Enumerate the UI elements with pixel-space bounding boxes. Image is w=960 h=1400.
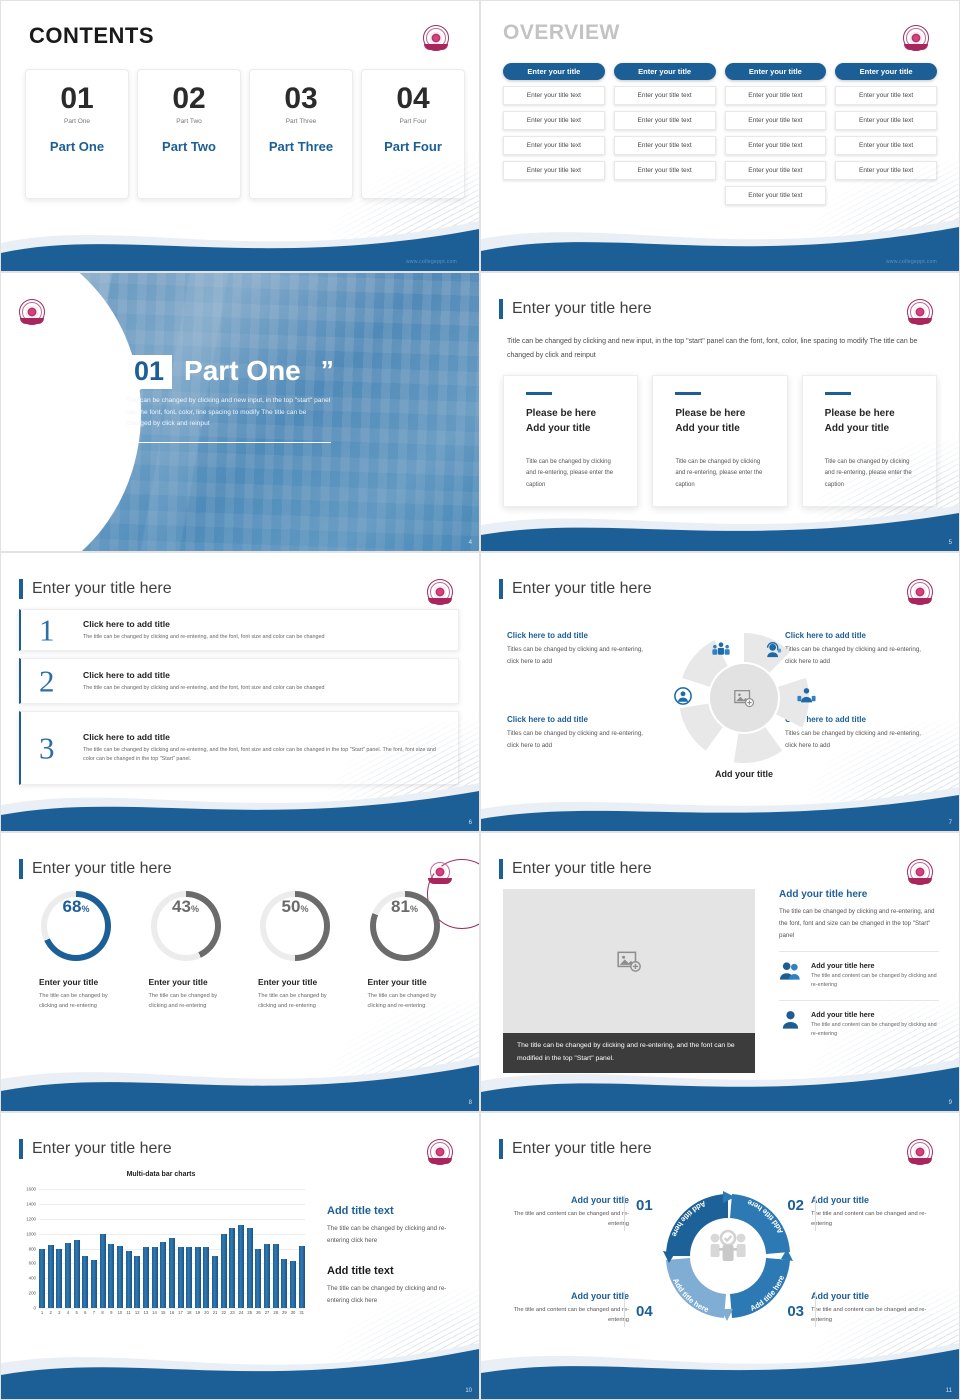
feature-card[interactable]: Please be here Add your title Title can … xyxy=(652,375,787,507)
slide-title: Enter your title here xyxy=(19,1139,172,1159)
card-body: Title can be changed by clicking and re-… xyxy=(825,457,914,492)
x-tick-label: 4 xyxy=(65,1310,71,1315)
wheel-block-top-left: Click here to add title Titles can be ch… xyxy=(507,631,655,668)
item-title: Click here to add title xyxy=(83,732,448,742)
title-accent-bar xyxy=(19,859,23,879)
page-number: 5 xyxy=(949,540,952,546)
bar xyxy=(203,1247,209,1308)
overview-column: Enter your title Enter your title text E… xyxy=(725,63,827,205)
bar xyxy=(229,1228,235,1308)
donut-unit: % xyxy=(81,904,89,914)
slide-overview: OVERVIEW Enter your title Enter your tit… xyxy=(480,0,960,272)
column-header-pill[interactable]: Enter your title xyxy=(725,63,827,80)
card-body: Title can be changed by clicking and re-… xyxy=(526,457,615,492)
side-body-1: The title can be changed by clicking and… xyxy=(327,1223,465,1247)
x-tick-label: 13 xyxy=(143,1310,149,1315)
cycle-block-04: Add your title The title and content can… xyxy=(499,1291,629,1326)
wheel-block-bottom-left: Click here to add title Titles can be ch… xyxy=(507,715,655,752)
x-tick-label: 26 xyxy=(255,1310,261,1315)
card-accent-dash xyxy=(675,392,701,395)
donut-chart: 50% xyxy=(260,891,330,961)
quote-mark-icon: ” xyxy=(321,355,334,386)
university-crest-logo xyxy=(903,25,929,51)
donut-body: The title can be changed by clicking and… xyxy=(39,992,125,1012)
card-row: Please be here Add your title Title can … xyxy=(503,375,937,507)
bar xyxy=(74,1240,80,1308)
donut-value: 81 xyxy=(391,897,410,917)
chart-x-axis-labels: 1234567891011121314151617181920212223242… xyxy=(39,1310,305,1315)
block-body: The title and content can be changed and… xyxy=(499,1305,629,1326)
university-crest-logo xyxy=(427,579,453,605)
column-header-pill[interactable]: Enter your title xyxy=(614,63,716,80)
page-number: 9 xyxy=(949,1100,952,1106)
y-tick-label: 1000 xyxy=(26,1231,36,1236)
chart-plot-area: 02004006008001000120014001600 1234567891… xyxy=(39,1189,305,1309)
bar xyxy=(100,1234,106,1308)
page-title: Enter your title here xyxy=(512,580,652,598)
bar xyxy=(212,1256,218,1308)
chart-bars xyxy=(39,1189,305,1308)
y-tick-label: 800 xyxy=(29,1246,36,1251)
slide-bar-chart: Enter your title here Multi-data bar cha… xyxy=(0,1112,480,1400)
university-crest-logo xyxy=(907,299,933,325)
footer-wave xyxy=(481,1337,959,1399)
university-crest-logo xyxy=(907,859,933,885)
donut-title: Enter your title xyxy=(39,977,98,987)
x-tick-label: 6 xyxy=(82,1310,88,1315)
card-number: 03 xyxy=(284,84,317,114)
contents-card[interactable]: 02 Part Two Part Two xyxy=(137,69,241,199)
side-title-1: Add title text xyxy=(327,1205,465,1217)
overview-cell[interactable]: Enter your title text xyxy=(503,86,605,105)
slide-three-cards: Enter your title here Title can be chang… xyxy=(480,272,960,552)
donut-value: 68 xyxy=(63,897,82,917)
block-title: Click here to add title xyxy=(507,631,655,640)
slide-wheel-diagram: Enter your title here Click here to add … xyxy=(480,552,960,832)
x-tick-label: 1 xyxy=(39,1310,45,1315)
cycle-number-01: 01 xyxy=(636,1197,653,1214)
bar-chart: Multi-data bar charts 020040060080010001… xyxy=(13,1171,309,1331)
card-label: Part Two xyxy=(162,139,216,154)
overview-cell[interactable]: Enter your title text xyxy=(503,111,605,130)
overview-column: Enter your title Enter your title text E… xyxy=(614,63,716,205)
donut-grid: 68% Enter your title The title can be ch… xyxy=(21,891,459,1012)
mini-item[interactable]: Add your title here The title and conten… xyxy=(779,951,939,990)
card-label: Part Three xyxy=(269,139,333,154)
lead-paragraph: Title can be changed by clicking and new… xyxy=(507,335,933,364)
bar xyxy=(255,1249,261,1308)
center-image-placeholder[interactable] xyxy=(710,664,778,732)
donut-title: Enter your title xyxy=(149,977,208,987)
title-accent-bar xyxy=(499,579,503,599)
footer-wave xyxy=(481,769,959,831)
user-badge-icon xyxy=(674,687,692,710)
overview-cell[interactable]: Enter your title text xyxy=(835,111,937,130)
list-item[interactable]: 2 Click here to add title The title can … xyxy=(19,658,459,704)
donut-unit: % xyxy=(191,904,199,914)
overview-cell[interactable]: Enter your title text xyxy=(725,86,827,105)
x-tick-label: 5 xyxy=(74,1310,80,1315)
slide-title: Enter your title here xyxy=(19,579,172,599)
slide-cycle-diagram: Enter your title here Add your title The… xyxy=(480,1112,960,1400)
overview-cell[interactable]: Enter your title text xyxy=(614,111,716,130)
item-title: Click here to add title xyxy=(83,670,448,680)
contents-card[interactable]: 04 Part Four Part Four xyxy=(361,69,465,199)
x-tick-label: 27 xyxy=(264,1310,270,1315)
page-title: Enter your title here xyxy=(32,1140,172,1158)
footer-wave xyxy=(1,1049,479,1111)
x-tick-label: 29 xyxy=(281,1310,287,1315)
title-accent-bar xyxy=(19,1139,23,1159)
column-header-pill[interactable]: Enter your title xyxy=(503,63,605,80)
donut-cell: 50% Enter your title The title can be ch… xyxy=(240,891,350,1012)
card-label: Part One xyxy=(50,139,104,154)
x-tick-label: 3 xyxy=(56,1310,62,1315)
x-tick-label: 20 xyxy=(203,1310,209,1315)
bar xyxy=(108,1244,114,1308)
y-tick-label: 600 xyxy=(29,1261,36,1266)
x-tick-label: 7 xyxy=(91,1310,97,1315)
x-tick-label: 12 xyxy=(134,1310,140,1315)
overview-cell[interactable]: Enter your title text xyxy=(503,136,605,155)
x-tick-label: 23 xyxy=(229,1310,235,1315)
slide-title: Enter your title here xyxy=(499,1139,652,1159)
x-tick-label: 19 xyxy=(195,1310,201,1315)
team-approval-icon xyxy=(705,1229,751,1274)
card-number: 02 xyxy=(172,84,205,114)
cycle-block-02: Add your title The title and content can… xyxy=(811,1195,941,1230)
segmented-wheel xyxy=(677,631,811,765)
item-body: The title can be changed by clicking and… xyxy=(83,633,448,642)
overview-cell[interactable]: Enter your title text xyxy=(725,111,827,130)
divider-description: Title can be changed by clicking and new… xyxy=(126,395,331,430)
bar xyxy=(290,1261,296,1308)
x-tick-label: 30 xyxy=(290,1310,296,1315)
title-accent-bar xyxy=(499,299,503,319)
x-tick-label: 14 xyxy=(152,1310,158,1315)
page-number: 6 xyxy=(469,820,472,826)
panel-title: Add your title here xyxy=(779,889,939,900)
overview-cell[interactable]: Enter your title text xyxy=(725,186,827,205)
part-badge: 01 xyxy=(126,355,172,389)
block-body: Titles can be changed by clicking and re… xyxy=(507,644,655,668)
item-number: 1 xyxy=(39,615,55,646)
item-number: 2 xyxy=(39,666,55,697)
donut-body: The title can be changed by clicking and… xyxy=(258,992,344,1012)
bar xyxy=(48,1245,54,1308)
slide-title: Enter your title here xyxy=(499,579,652,599)
slide-deck-sheet: CONTENTS 01 Part One Part One 02 Part Tw… xyxy=(0,0,960,1400)
title-accent-bar xyxy=(499,859,503,879)
card-title: Please be here Add your title xyxy=(526,406,615,436)
overview-columns: Enter your title Enter your title text E… xyxy=(503,63,937,205)
overview-column: Enter your title Enter your title text E… xyxy=(503,63,605,205)
side-body-2: The title can be changed by clicking and… xyxy=(327,1283,465,1307)
card-accent-dash xyxy=(825,392,851,395)
mini-title: Add your title here xyxy=(811,1010,939,1019)
bar xyxy=(178,1247,184,1308)
mini-item[interactable]: Add your title here The title and conten… xyxy=(779,1000,939,1039)
donut-title: Enter your title xyxy=(368,977,427,987)
bar xyxy=(238,1225,244,1308)
block-title: Add your title xyxy=(811,1195,941,1205)
x-tick-label: 2 xyxy=(48,1310,54,1315)
slide-title: Enter your title here xyxy=(499,299,652,319)
page-number: 11 xyxy=(946,1388,952,1394)
card-accent-dash xyxy=(526,392,552,395)
person-headset-icon xyxy=(764,641,783,663)
y-tick-label: 200 xyxy=(29,1291,36,1296)
item-title: Click here to add title xyxy=(83,619,448,629)
slide-part-one-divider: 01Part One” Title can be changed by clic… xyxy=(0,272,480,552)
slide-title: Enter your title here xyxy=(499,859,652,879)
slide-contents: CONTENTS 01 Part One Part One 02 Part Tw… xyxy=(0,0,480,272)
item-number: 3 xyxy=(39,733,55,764)
user-presenter-icon xyxy=(797,687,816,709)
cycle-block-03: Add your title The title and content can… xyxy=(811,1291,941,1326)
title-accent-bar xyxy=(19,579,23,599)
divider xyxy=(815,1195,816,1231)
page-title: OVERVIEW xyxy=(503,21,620,45)
x-tick-label: 15 xyxy=(160,1310,166,1315)
x-tick-label: 21 xyxy=(212,1310,218,1315)
bar xyxy=(91,1260,97,1308)
overview-cell[interactable]: Enter your title text xyxy=(725,136,827,155)
bar xyxy=(273,1244,279,1308)
donut-unit: % xyxy=(410,904,418,914)
block-body: The title and content can be changed and… xyxy=(499,1209,629,1230)
bar xyxy=(143,1247,149,1308)
donut-value: 50 xyxy=(282,897,301,917)
overview-cell[interactable]: Enter your title text xyxy=(835,161,937,180)
cycle-ring: Add title here Add title here Add title … xyxy=(653,1181,803,1331)
bar xyxy=(195,1247,201,1308)
university-crest-logo xyxy=(907,1139,933,1165)
bar xyxy=(299,1246,305,1308)
single-person-icon xyxy=(779,1010,802,1039)
page-title: Enter your title here xyxy=(32,580,172,598)
list-item[interactable]: 1 Click here to add title The title can … xyxy=(19,609,459,651)
block-body: Titles can be changed by clicking and re… xyxy=(507,728,655,752)
x-tick-label: 24 xyxy=(238,1310,244,1315)
overview-column: Enter your title Enter your title text E… xyxy=(835,63,937,205)
donut-title: Enter your title xyxy=(258,977,317,987)
slide-percentage-donuts: Enter your title here 68% Enter your tit… xyxy=(0,832,480,1112)
footer-wave xyxy=(1,769,479,831)
block-body: The title and content can be changed and… xyxy=(811,1305,941,1326)
card-number: 01 xyxy=(60,84,93,114)
university-crest-logo xyxy=(907,579,933,605)
overview-cell[interactable]: Enter your title text xyxy=(503,161,605,180)
donut-cell: 43% Enter your title The title can be ch… xyxy=(131,891,241,1012)
donut-cell: 68% Enter your title The title can be ch… xyxy=(21,891,131,1012)
x-tick-label: 18 xyxy=(186,1310,192,1315)
group-people-icon xyxy=(711,641,731,662)
block-title: Add your title xyxy=(499,1195,629,1205)
gridline: 0 xyxy=(39,1308,305,1309)
page-number: 10 xyxy=(465,1388,472,1394)
card-subtitle: Part Four xyxy=(399,118,426,125)
x-tick-label: 8 xyxy=(100,1310,106,1315)
column-header-pill[interactable]: Enter your title xyxy=(835,63,937,80)
part-title: Part One xyxy=(184,355,301,387)
overview-cell[interactable]: Enter your title text xyxy=(835,136,937,155)
page-number: 7 xyxy=(949,820,952,826)
two-people-icon xyxy=(779,961,802,990)
bar xyxy=(160,1242,166,1308)
card-subtitle: Part Three xyxy=(286,118,317,125)
chart-side-text: Add title text The title can be changed … xyxy=(327,1205,465,1307)
item-body: The title can be changed by clicking and… xyxy=(83,746,448,764)
side-title-2: Add title text xyxy=(327,1265,465,1277)
y-tick-label: 1400 xyxy=(26,1201,36,1206)
page-title: Enter your title here xyxy=(512,860,652,878)
bar xyxy=(39,1249,45,1308)
bar xyxy=(247,1228,253,1308)
card-subtitle: Part Two xyxy=(176,118,202,125)
block-title: Add your title xyxy=(811,1291,941,1301)
bar xyxy=(82,1256,88,1308)
bar xyxy=(152,1247,158,1308)
watermark: www.collegeppt.com xyxy=(886,259,937,265)
title-accent-bar xyxy=(499,1139,503,1159)
bar xyxy=(56,1249,62,1308)
divider-content: 01Part One” Title can be changed by clic… xyxy=(126,355,334,443)
donut-chart: 43% xyxy=(151,891,221,961)
item-body: The title can be changed by clicking and… xyxy=(83,684,448,693)
bar xyxy=(264,1244,270,1308)
divider xyxy=(624,1195,625,1231)
divider-rule xyxy=(126,442,331,443)
x-tick-label: 10 xyxy=(117,1310,123,1315)
bar xyxy=(134,1256,140,1308)
card-title: Please be here Add your title xyxy=(675,406,764,436)
footer-wave xyxy=(481,1049,959,1111)
watermark: www.collegeppt.com xyxy=(406,259,457,265)
x-tick-label: 25 xyxy=(247,1310,253,1315)
divider xyxy=(815,1291,816,1327)
y-tick-label: 1600 xyxy=(26,1187,36,1192)
x-tick-label: 17 xyxy=(178,1310,184,1315)
overview-cell[interactable]: Enter your title text xyxy=(725,161,827,180)
y-tick-label: 0 xyxy=(34,1306,36,1311)
contents-card[interactable]: 03 Part Three Part Three xyxy=(249,69,353,199)
overview-cell[interactable]: Enter your title text xyxy=(614,86,716,105)
block-title: Click here to add title xyxy=(507,715,655,724)
right-panel: Add your title here The title can be cha… xyxy=(779,889,939,1039)
bar xyxy=(126,1251,132,1308)
bar xyxy=(186,1247,192,1308)
page-title: CONTENTS xyxy=(29,23,154,49)
y-tick-label: 400 xyxy=(29,1276,36,1281)
donut-cell: 81% Enter your title The title can be ch… xyxy=(350,891,460,1012)
bar xyxy=(65,1243,71,1308)
card-body: Title can be changed by clicking and re-… xyxy=(675,457,764,492)
slide-title: Enter your title here xyxy=(19,859,172,879)
donut-chart: 81% xyxy=(370,891,440,961)
page-number: 4 xyxy=(469,540,472,546)
x-tick-label: 9 xyxy=(108,1310,114,1315)
contents-card[interactable]: 01 Part One Part One xyxy=(25,69,129,199)
bar xyxy=(221,1234,227,1308)
card-title: Please be here Add your title xyxy=(825,406,914,436)
page-title: Enter your title here xyxy=(32,860,172,878)
x-tick-label: 11 xyxy=(126,1310,132,1315)
card-label: Part Four xyxy=(384,139,442,154)
donut-body: The title can be changed by clicking and… xyxy=(149,992,235,1012)
donut-value: 43 xyxy=(172,897,191,917)
feature-card[interactable]: Please be here Add your title Title can … xyxy=(503,375,638,507)
mini-body: The title and content can be changed by … xyxy=(811,1021,939,1039)
bar xyxy=(117,1246,123,1308)
block-title: Add your title xyxy=(499,1291,629,1301)
overview-cell[interactable]: Enter your title text xyxy=(614,161,716,180)
university-crest-logo xyxy=(427,859,453,885)
mini-body: The title and content can be changed by … xyxy=(811,972,939,990)
cycle-block-01: Add your title The title and content can… xyxy=(499,1195,629,1230)
bar xyxy=(169,1238,175,1308)
x-tick-label: 16 xyxy=(169,1310,175,1315)
feature-card[interactable]: Please be here Add your title Title can … xyxy=(802,375,937,507)
overview-cell[interactable]: Enter your title text xyxy=(614,136,716,155)
donut-body: The title can be changed by clicking and… xyxy=(368,992,454,1012)
image-placeholder-icon xyxy=(733,687,755,709)
page-number: 8 xyxy=(469,1100,472,1106)
bar xyxy=(281,1259,287,1308)
mini-title: Add your title here xyxy=(811,961,939,970)
university-crest-logo xyxy=(19,299,45,325)
block-body: The title and content can be changed and… xyxy=(811,1209,941,1230)
slide-image-and-list: Enter your title here The title can be c… xyxy=(480,832,960,1112)
footer-wave xyxy=(481,489,959,551)
y-tick-label: 1200 xyxy=(26,1216,36,1221)
divider xyxy=(624,1291,625,1327)
page-title: Enter your title here xyxy=(512,1140,652,1158)
panel-body: The title can be changed by clicking and… xyxy=(779,906,939,942)
footer-wave xyxy=(1,1337,479,1399)
card-subtitle: Part One xyxy=(64,118,90,125)
chart-title: Multi-data bar charts xyxy=(13,1171,309,1178)
image-placeholder[interactable] xyxy=(503,889,755,1033)
university-crest-logo xyxy=(427,1139,453,1165)
image-placeholder-icon xyxy=(616,948,642,974)
list-container: 1 Click here to add title The title can … xyxy=(19,609,459,792)
slide-numbered-list: Enter your title here 1 Click here to ad… xyxy=(0,552,480,832)
card-number: 04 xyxy=(396,84,429,114)
x-tick-label: 31 xyxy=(299,1310,305,1315)
cycle-number-04: 04 xyxy=(636,1303,653,1320)
x-tick-label: 28 xyxy=(273,1310,279,1315)
overview-cell[interactable]: Enter your title text xyxy=(835,86,937,105)
university-crest-logo xyxy=(423,25,449,51)
donut-unit: % xyxy=(300,904,308,914)
x-tick-label: 22 xyxy=(221,1310,227,1315)
contents-card-list: 01 Part One Part One 02 Part Two Part Tw… xyxy=(25,69,465,199)
donut-chart: 68% xyxy=(41,891,111,961)
page-title: Enter your title here xyxy=(512,300,652,318)
